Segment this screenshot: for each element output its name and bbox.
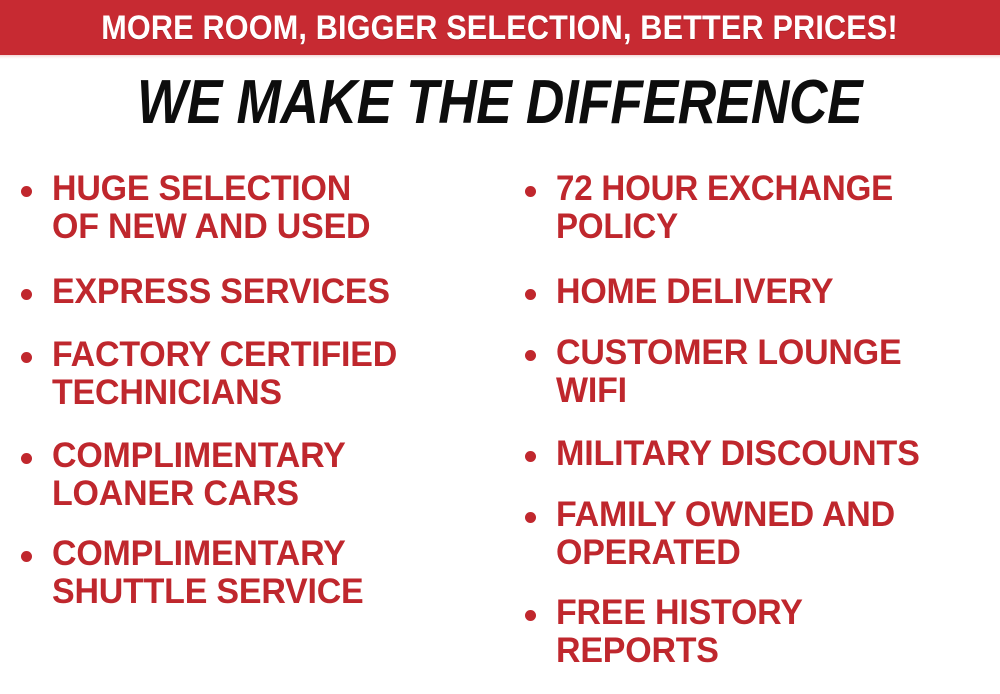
list-item: HUGE SELECTION OF NEW AND USED bbox=[14, 170, 504, 246]
bullet-dot-icon bbox=[525, 610, 536, 621]
banner-underline-divider bbox=[0, 55, 1000, 59]
bullet-dot-icon bbox=[21, 453, 32, 464]
list-item: MILITARY DISCOUNTS bbox=[518, 435, 1000, 473]
benefits-columns: HUGE SELECTION OF NEW AND USED EXPRESS S… bbox=[0, 160, 1000, 694]
page-title: WE MAKE THE DIFFERENCE bbox=[137, 70, 862, 136]
bullet-dot-icon bbox=[525, 451, 536, 462]
list-item: 72 HOUR EXCHANGE POLICY bbox=[518, 170, 1000, 246]
top-banner: MORE ROOM, BIGGER SELECTION, BETTER PRIC… bbox=[0, 0, 1000, 55]
list-item-label: COMPLIMENTARY LOANER CARS bbox=[52, 437, 490, 513]
bullet-dot-icon bbox=[21, 352, 32, 363]
list-item-label: MILITARY DISCOUNTS bbox=[556, 435, 989, 473]
bullet-dot-icon bbox=[525, 512, 536, 523]
list-item: EXPRESS SERVICES bbox=[14, 273, 504, 311]
benefits-column-left: HUGE SELECTION OF NEW AND USED EXPRESS S… bbox=[14, 160, 504, 611]
list-item: FREE HISTORY REPORTS bbox=[518, 594, 1000, 670]
bullet-dot-icon bbox=[525, 186, 536, 197]
list-item-label: EXPRESS SERVICES bbox=[52, 273, 490, 311]
list-item: HOME DELIVERY bbox=[518, 273, 1000, 311]
list-item-label: HUGE SELECTION OF NEW AND USED bbox=[52, 170, 490, 246]
list-item-label: COMPLIMENTARY SHUTTLE SERVICE bbox=[52, 535, 490, 611]
list-item: COMPLIMENTARY SHUTTLE SERVICE bbox=[14, 535, 504, 611]
list-item-label: FREE HISTORY REPORTS bbox=[556, 594, 987, 670]
list-item: COMPLIMENTARY LOANER CARS bbox=[14, 437, 504, 513]
bullet-dot-icon bbox=[21, 551, 32, 562]
list-item: CUSTOMER LOUNGE WIFI bbox=[518, 334, 1000, 410]
advertisement-poster: MORE ROOM, BIGGER SELECTION, BETTER PRIC… bbox=[0, 0, 1000, 694]
bullet-dot-icon bbox=[525, 350, 536, 361]
benefits-column-right: 72 HOUR EXCHANGE POLICY HOME DELIVERY CU… bbox=[518, 160, 1000, 670]
list-item-label: FAMILY OWNED AND OPERATED bbox=[556, 496, 987, 572]
list-item-label: HOME DELIVERY bbox=[556, 273, 987, 311]
bullet-dot-icon bbox=[21, 289, 32, 300]
list-item-label: FACTORY CERTIFIED TECHNICIANS bbox=[52, 336, 490, 412]
banner-headline-text: MORE ROOM, BIGGER SELECTION, BETTER PRIC… bbox=[102, 11, 899, 45]
headline-container: WE MAKE THE DIFFERENCE bbox=[0, 66, 1000, 140]
list-item-label: 72 HOUR EXCHANGE POLICY bbox=[556, 170, 976, 246]
list-item: FAMILY OWNED AND OPERATED bbox=[518, 496, 1000, 572]
list-item: FACTORY CERTIFIED TECHNICIANS bbox=[14, 336, 504, 412]
bullet-dot-icon bbox=[21, 186, 32, 197]
bullet-dot-icon bbox=[525, 289, 536, 300]
list-item-label: CUSTOMER LOUNGE WIFI bbox=[556, 334, 987, 410]
